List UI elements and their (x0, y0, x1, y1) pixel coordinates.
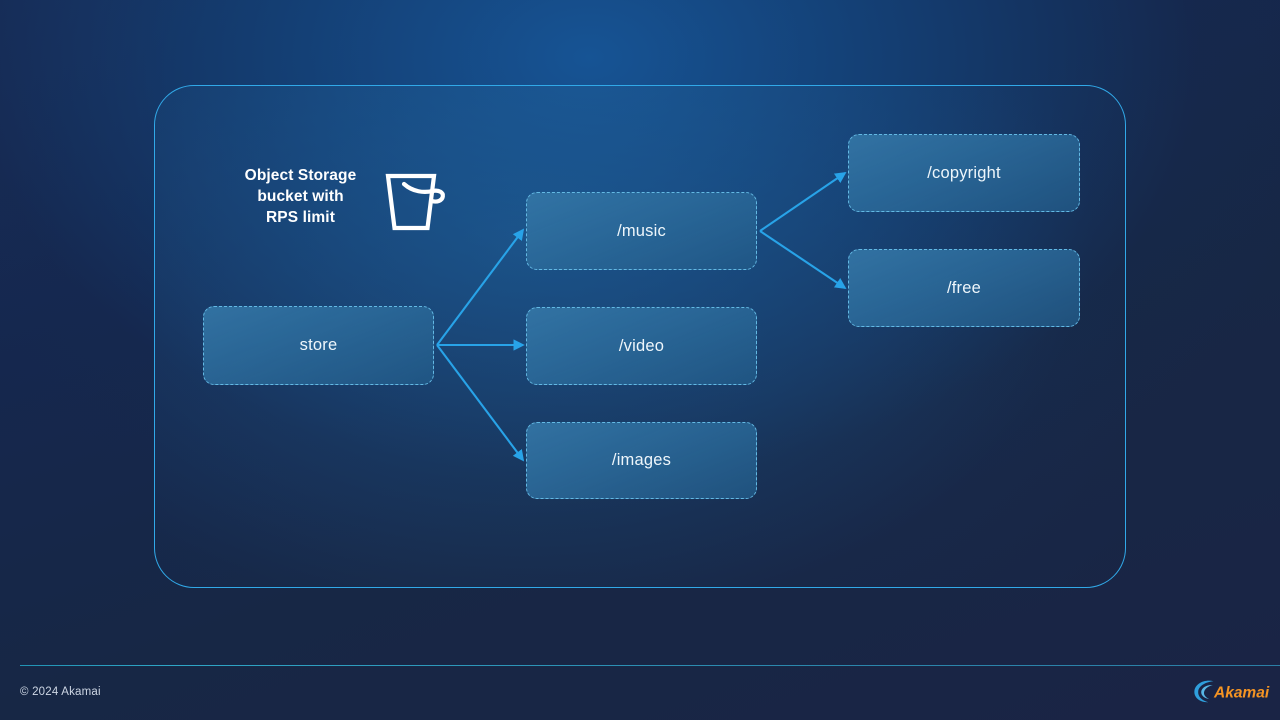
object-storage-caption: Object Storage bucket with RPS limit (228, 165, 373, 228)
node-copyright-label: /copyright (927, 164, 1001, 183)
node-store-label: store (300, 336, 338, 355)
node-music[interactable]: /music (526, 192, 757, 270)
caption-line-3: RPS limit (228, 207, 373, 228)
akamai-logo-text: Akamai (1213, 685, 1270, 702)
footer-divider (20, 665, 1280, 666)
node-copyright[interactable]: /copyright (848, 134, 1080, 212)
node-video[interactable]: /video (526, 307, 757, 385)
node-free-label: /free (947, 279, 981, 298)
caption-line-2: bucket with (228, 186, 373, 207)
footer-copyright: © 2024 Akamai (20, 686, 101, 698)
node-store[interactable]: store (203, 306, 434, 385)
node-free[interactable]: /free (848, 249, 1080, 327)
object-storage-caption-block: Object Storage bucket with RPS limit (228, 165, 453, 243)
akamai-swirl-icon (1194, 681, 1213, 703)
node-images[interactable]: /images (526, 422, 757, 499)
akamai-logo: Akamai (1192, 678, 1272, 704)
node-music-label: /music (617, 222, 666, 241)
node-images-label: /images (612, 451, 671, 470)
node-video-label: /video (619, 337, 664, 356)
caption-line-1: Object Storage (228, 165, 373, 186)
bucket-icon (380, 170, 448, 236)
slide-canvas: Object Storage bucket with RPS limit (0, 0, 1280, 720)
